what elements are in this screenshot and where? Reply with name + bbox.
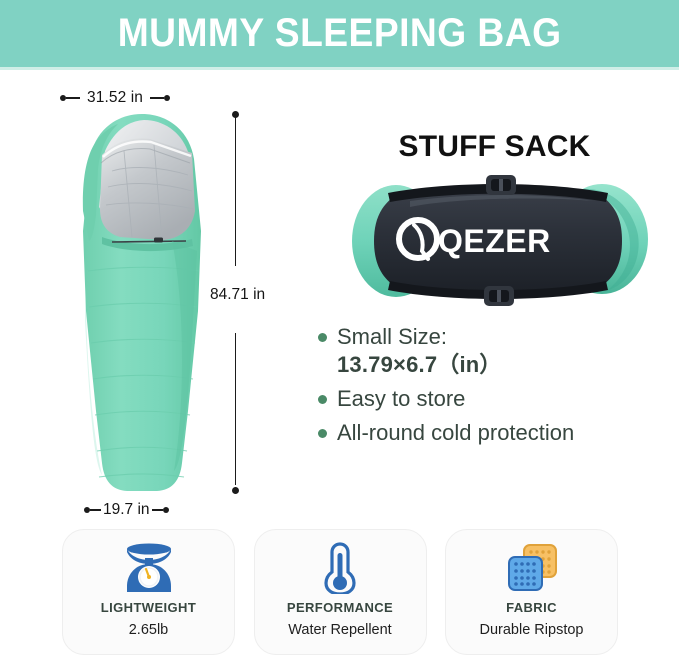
stuff-sack-illustration: QEZER: [350, 173, 650, 308]
dimension-line: [235, 333, 236, 485]
bullet-label: Small Size:: [337, 324, 447, 349]
stuff-sack-section: STUFF SACK: [310, 75, 679, 520]
top-buckle: [486, 175, 516, 195]
card-subtitle: Water Repellent: [288, 622, 391, 638]
feature-cards: LIGHTWEIGHT 2.65lb PERFORMANCE Water Rep…: [62, 529, 618, 655]
dimension-width-top-label: 31.52 in: [80, 89, 150, 107]
dimension-line: [66, 97, 80, 98]
sleeping-bag-svg: [62, 111, 222, 496]
dimension-width-bottom-label: 19.7 in: [101, 501, 152, 519]
card-title: PERFORMANCE: [287, 600, 393, 615]
stuff-sack-svg: QEZER: [350, 173, 650, 308]
dimension-line: [152, 509, 163, 510]
dimension-endpoint-dot: [232, 487, 239, 494]
stuff-sack-title: STUFF SACK: [310, 130, 679, 164]
page-title: MUMMY SLEEPING BAG: [118, 11, 562, 56]
card-title: LIGHTWEIGHT: [101, 600, 196, 615]
dimension-height: 84.71 in: [232, 111, 302, 496]
dimension-line: [150, 97, 164, 98]
dimension-width-top: 31.52 in: [60, 87, 220, 109]
list-item: Easy to store: [318, 385, 678, 413]
qezer-wordmark: QEZER: [438, 223, 551, 259]
card-title: FABRIC: [506, 600, 557, 615]
list-item: Small Size: 13.79×6.7（in）: [318, 323, 678, 379]
card-subtitle: Durable Ripstop: [480, 622, 584, 638]
feature-card-lightweight: LIGHTWEIGHT 2.65lb: [62, 529, 235, 655]
product-figure: 31.52 in: [0, 75, 300, 520]
list-item: All-round cold protection: [318, 419, 678, 447]
dimension-height-label: 84.71 in: [210, 286, 310, 304]
thermometer-icon: [320, 541, 360, 595]
dimension-line: [235, 116, 236, 266]
bullet-label: Easy to store: [337, 385, 465, 413]
dimension-line: [90, 509, 101, 510]
feature-card-performance: PERFORMANCE Water Repellent: [254, 529, 427, 655]
header-divider: [0, 67, 679, 70]
bullet-label: All-round cold protection: [337, 419, 574, 447]
bullet-dot-icon: [318, 395, 327, 404]
bullet-value: 13.79×6.7（in）: [337, 352, 502, 377]
feature-card-fabric: FABRIC Durable Ripstop: [445, 529, 618, 655]
header-banner: MUMMY SLEEPING BAG: [0, 0, 679, 67]
dimension-endpoint-dot: [164, 95, 170, 101]
bullet-dot-icon: [318, 429, 327, 438]
kitchen-scale-icon: [121, 541, 177, 595]
bullet-dot-icon: [318, 333, 327, 342]
dimension-endpoint-dot: [163, 507, 169, 513]
sleeping-bag-illustration: [62, 111, 222, 496]
zipper-pull: [154, 238, 163, 243]
ripstop-fabric-icon: [504, 541, 560, 595]
zipper-line: [112, 241, 186, 242]
card-subtitle: 2.65lb: [129, 622, 169, 638]
infographic-page: MUMMY SLEEPING BAG 31.52 in: [0, 0, 679, 667]
bottom-buckle: [484, 286, 514, 306]
feature-bullet-list: Small Size: 13.79×6.7（in） Easy to store …: [318, 323, 678, 453]
dimension-width-bottom: 19.7 in: [84, 499, 234, 521]
